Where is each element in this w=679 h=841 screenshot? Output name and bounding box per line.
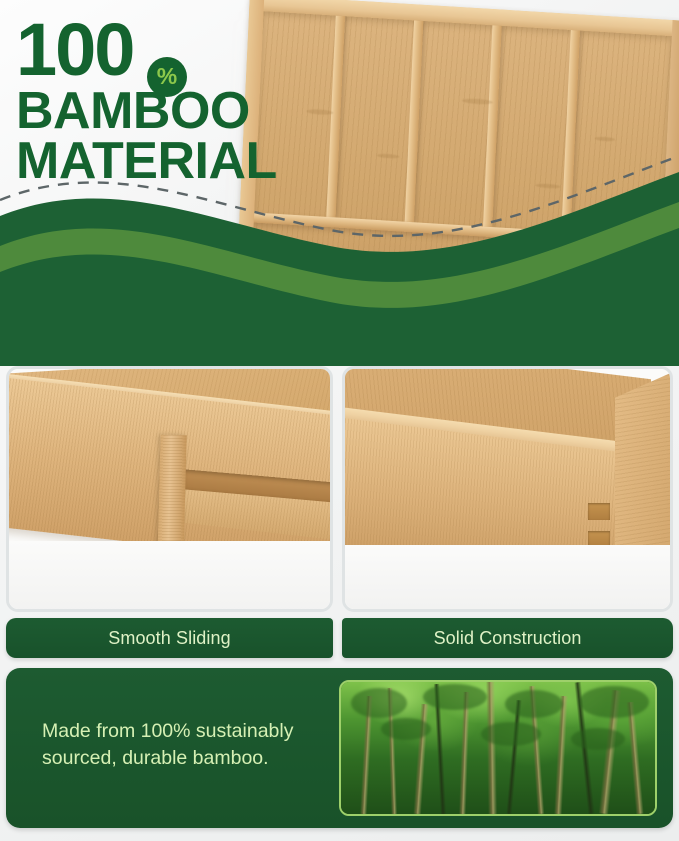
bamboo-forest-photo — [339, 680, 657, 816]
caption-solid-construction: Solid Construction — [342, 618, 673, 658]
sustainability-text: Made from 100% sustainably sourced, dura… — [42, 718, 342, 772]
corner-finger-joint — [588, 503, 610, 520]
feature-panels-row — [0, 364, 679, 614]
smooth-sliding-closeup-image — [9, 369, 330, 609]
percent-badge: % — [147, 57, 187, 97]
photo-backdrop — [9, 541, 330, 609]
product-infographic: 100 % BAMBOO MATERIAL — [0, 0, 679, 841]
headline-line-material: MATERIAL — [16, 137, 316, 185]
foliage — [505, 690, 563, 718]
hero-section: 100 % BAMBOO MATERIAL — [0, 0, 679, 366]
feature-panel-smooth-sliding — [6, 366, 333, 612]
headline-block: 100 % BAMBOO MATERIAL — [16, 16, 316, 186]
foliage — [351, 688, 407, 718]
foliage — [571, 728, 625, 750]
foliage — [579, 686, 649, 718]
feature-panel-solid-construction — [342, 366, 673, 612]
caption-smooth-sliding: Smooth Sliding — [6, 618, 333, 658]
foliage — [481, 722, 541, 746]
foliage — [381, 718, 431, 740]
sustainability-panel: Made from 100% sustainably sourced, dura… — [6, 668, 673, 828]
photo-backdrop — [345, 545, 670, 609]
solid-construction-closeup-image — [345, 369, 670, 609]
foliage — [423, 684, 487, 710]
